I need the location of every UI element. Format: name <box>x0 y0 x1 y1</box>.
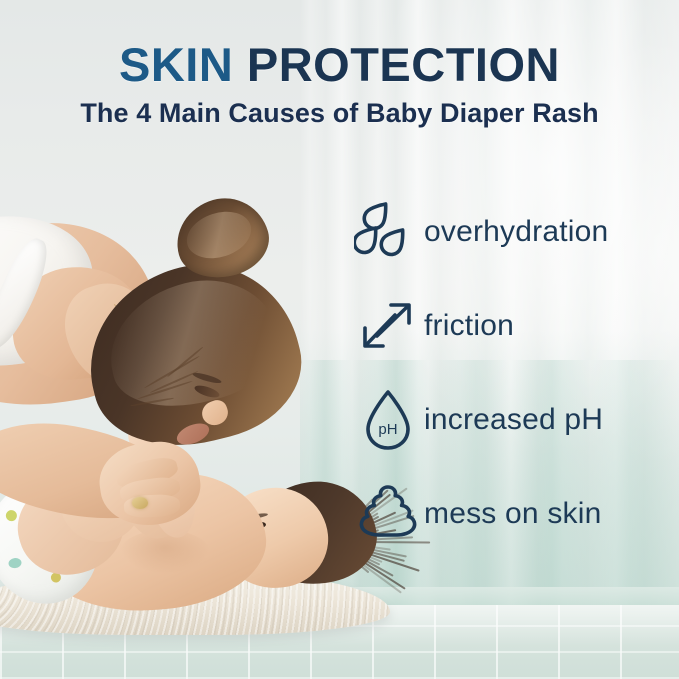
ph-icon-text: pH <box>378 421 397 438</box>
cause-label: increased pH <box>424 403 603 437</box>
title-accent-word: SKIN <box>119 38 233 91</box>
mother-figure <box>0 175 350 535</box>
cause-item-mess-on-skin: mess on skin <box>352 478 652 550</box>
infographic-scene: SKIN PROTECTION The 4 Main Causes of Bab… <box>0 0 679 679</box>
cause-label: mess on skin <box>424 497 601 531</box>
mother-ring <box>132 497 148 509</box>
mess-swirl-icon <box>352 478 424 550</box>
header-block: SKIN PROTECTION The 4 Main Causes of Bab… <box>0 40 679 129</box>
cause-item-increased-ph: pH increased pH <box>352 384 652 456</box>
diaper-print-dot <box>8 557 22 569</box>
water-drops-icon <box>352 196 424 268</box>
cause-label: overhydration <box>424 215 608 249</box>
ph-droplet-icon: pH <box>352 384 424 456</box>
title-space <box>233 38 247 91</box>
cause-item-friction: friction <box>352 290 652 362</box>
page-title: SKIN PROTECTION <box>0 40 679 89</box>
causes-list: overhydration friction pH <box>352 196 652 550</box>
cause-item-overhydration: overhydration <box>352 196 652 268</box>
cause-label: friction <box>424 309 514 343</box>
title-main-word: PROTECTION <box>247 38 560 91</box>
page-subtitle: The 4 Main Causes of Baby Diaper Rash <box>0 98 679 129</box>
double-diagonal-arrow-icon <box>352 290 424 362</box>
